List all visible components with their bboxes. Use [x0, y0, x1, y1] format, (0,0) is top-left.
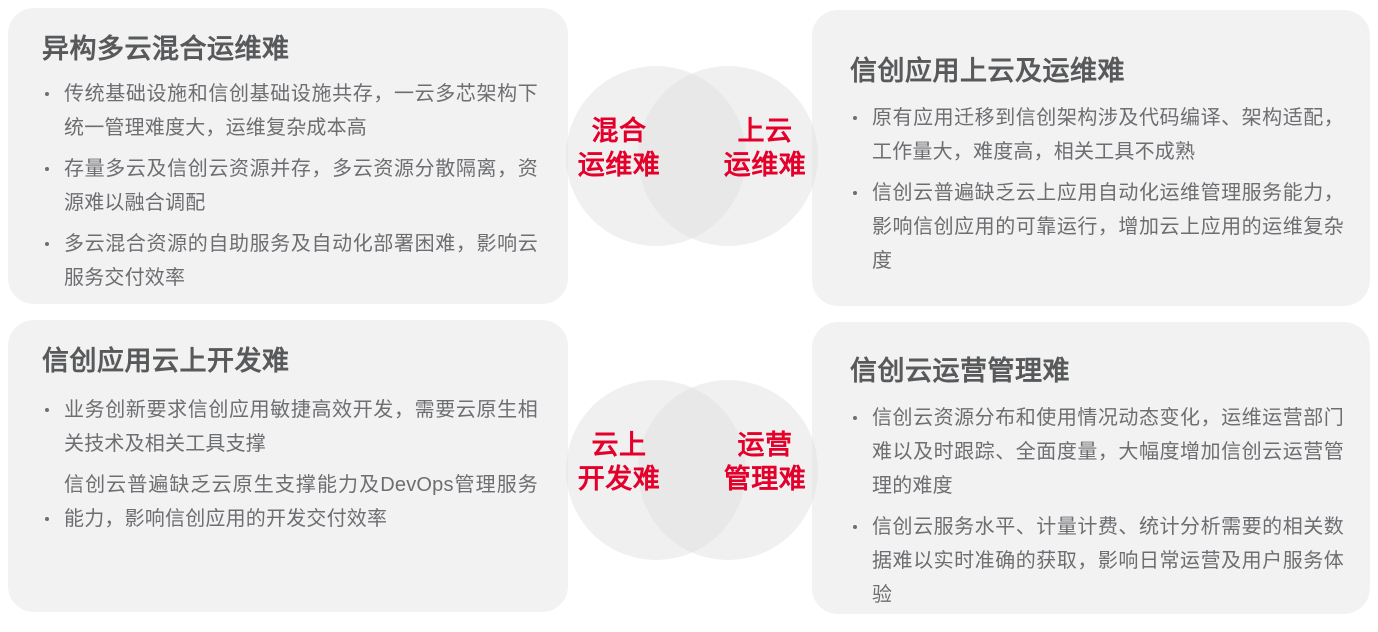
card-content: 信创云运营管理难 信创云资源分布和使用情况动态变化，运维运营部门难以及时跟踪、全…	[812, 322, 1370, 632]
bullet-item: 信创云资源分布和使用情况动态变化，运维运营部门难以及时跟踪、全面度量，大幅度增加…	[850, 401, 1344, 503]
venn-label-cloud-onboarding-ops: 上云 运维难	[706, 114, 824, 182]
venn-label-line2: 开发难	[560, 462, 678, 496]
bullet-list: 原有应用迁移到信创架构涉及代码编译、架构适配，工作量大，难度高，相关工具不成熟 …	[850, 101, 1344, 278]
venn-label-operations-management: 运营 管理难	[706, 428, 824, 496]
bullet-text: 原有应用迁移到信创架构涉及代码编译、架构适配，工作量大，难度高，相关工具不成熟	[872, 107, 1344, 163]
venn-label-line1: 云上	[560, 428, 678, 462]
venn-diagram-top: 混合 运维难 上云 运维难	[566, 66, 818, 246]
bullet-dot-icon	[853, 525, 857, 529]
bullet-item: 原有应用迁移到信创架构涉及代码编译、架构适配，工作量大，难度高，相关工具不成熟	[850, 101, 1344, 169]
venn-label-line1: 上云	[706, 114, 824, 148]
bullet-list: 信创云资源分布和使用情况动态变化，运维运营部门难以及时跟踪、全面度量，大幅度增加…	[850, 401, 1344, 612]
venn-label-line1: 运营	[706, 428, 824, 462]
card-content: 信创应用上云及运维难 原有应用迁移到信创架构涉及代码编译、架构适配，工作量大，难…	[812, 10, 1370, 298]
bullet-text: 业务创新要求信创应用敏捷高效开发，需要云原生相关技术及相关工具支撑	[64, 399, 538, 455]
bullet-item: 传统基础设施和信创基础设施共存，一云多芯架构下统一管理难度大，运维复杂成本高	[42, 77, 538, 145]
card-cloud-development: 信创应用云上开发难 业务创新要求信创应用敏捷高效开发，需要云原生相关技术及相关工…	[8, 320, 568, 612]
card-heterogeneous-multicloud-ops: 异构多云混合运维难 传统基础设施和信创基础设施共存，一云多芯架构下统一管理难度大…	[8, 8, 568, 304]
card-cloud-operations-management: 信创云运营管理难 信创云资源分布和使用情况动态变化，运维运营部门难以及时跟踪、全…	[812, 322, 1370, 614]
card-title: 信创云运营管理难	[850, 356, 1344, 387]
bullet-list: 传统基础设施和信创基础设施共存，一云多芯架构下统一管理难度大，运维复杂成本高 存…	[42, 77, 538, 295]
bullet-item: 业务创新要求信创应用敏捷高效开发，需要云原生相关技术及相关工具支撑	[42, 393, 538, 461]
card-content: 异构多云混合运维难 传统基础设施和信创基础设施共存，一云多芯架构下统一管理难度大…	[8, 8, 568, 315]
bullet-dot-icon	[853, 416, 857, 420]
bullet-item: 存量多云及信创云资源并存，多云资源分散隔离，资源难以融合调配	[42, 152, 538, 220]
bullet-text: 多云混合资源的自助服务及自动化部署困难，影响云服务交付效率	[64, 233, 538, 289]
venn-label-hybrid-ops: 混合 运维难	[560, 114, 678, 182]
bullet-item: 信创云服务水平、计量计费、统计分析需要的相关数据难以实时准确的获取，影响日常运营…	[850, 510, 1344, 612]
bullet-text: 存量多云及信创云资源并存，多云资源分散隔离，资源难以融合调配	[64, 158, 538, 214]
bullet-text: 信创云服务水平、计量计费、统计分析需要的相关数据难以实时准确的获取，影响日常运营…	[872, 516, 1344, 606]
bullet-item: 信创云普遍缺乏云上应用自动化运维管理服务能力，影响信创应用的可靠运行，增加云上应…	[850, 176, 1344, 278]
bullet-dot-icon	[45, 242, 49, 246]
bullet-item: 多云混合资源的自助服务及自动化部署困难，影响云服务交付效率	[42, 227, 538, 295]
card-content: 信创应用云上开发难 业务创新要求信创应用敏捷高效开发，需要云原生相关技术及相关工…	[8, 320, 568, 556]
bullet-text: 信创云普遍缺乏云原生支撑能力及DevOps管理服务能力，影响信创应用的开发交付效…	[64, 474, 538, 530]
venn-label-cloud-development: 云上 开发难	[560, 428, 678, 496]
card-title: 异构多云混合运维难	[42, 34, 538, 65]
venn-diagram-bottom: 云上 开发难 运营 管理难	[566, 380, 818, 560]
bullet-dot-icon	[45, 408, 49, 412]
bullet-list: 业务创新要求信创应用敏捷高效开发，需要云原生相关技术及相关工具支撑 信创云普遍缺…	[42, 393, 538, 536]
card-title: 信创应用上云及运维难	[850, 56, 1344, 87]
venn-label-line2: 运维难	[560, 148, 678, 182]
bullet-dot-icon	[45, 517, 49, 521]
bullet-dot-icon	[853, 116, 857, 120]
bullet-item: 信创云普遍缺乏云原生支撑能力及DevOps管理服务能力，影响信创应用的开发交付效…	[42, 468, 538, 536]
card-title: 信创应用云上开发难	[42, 346, 538, 377]
bullet-dot-icon	[853, 191, 857, 195]
infographic-canvas: 异构多云混合运维难 传统基础设施和信创基础设施共存，一云多芯架构下统一管理难度大…	[0, 0, 1378, 620]
bullet-text: 传统基础设施和信创基础设施共存，一云多芯架构下统一管理难度大，运维复杂成本高	[64, 83, 538, 139]
bullet-dot-icon	[45, 167, 49, 171]
bullet-text: 信创云资源分布和使用情况动态变化，运维运营部门难以及时跟踪、全面度量，大幅度增加…	[872, 407, 1344, 497]
venn-label-line1: 混合	[560, 114, 678, 148]
venn-label-line2: 管理难	[706, 462, 824, 496]
venn-label-line2: 运维难	[706, 148, 824, 182]
card-app-migration-ops: 信创应用上云及运维难 原有应用迁移到信创架构涉及代码编译、架构适配，工作量大，难…	[812, 10, 1370, 306]
bullet-dot-icon	[45, 92, 49, 96]
bullet-text: 信创云普遍缺乏云上应用自动化运维管理服务能力，影响信创应用的可靠运行，增加云上应…	[872, 182, 1344, 272]
